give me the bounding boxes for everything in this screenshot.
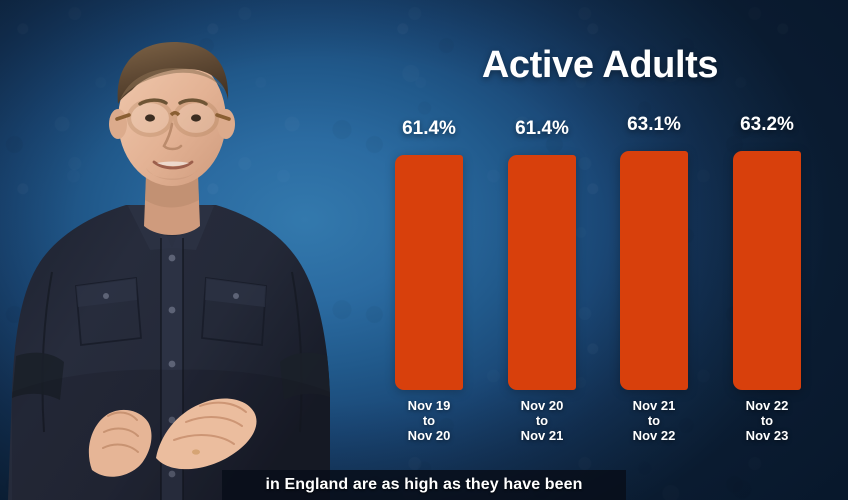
bar-axis-label-line3: Nov 23 — [746, 428, 789, 443]
bar-value-label: 63.1% — [627, 114, 681, 136]
bar-rect — [395, 155, 463, 390]
bar-axis-label: Nov 22 to Nov 23 — [746, 398, 789, 443]
bar-axis-label-line2: to — [521, 413, 564, 428]
bar-axis-label: Nov 20 to Nov 21 — [521, 398, 564, 443]
bar-axis-label-line3: Nov 22 — [633, 428, 676, 443]
bar-axis-label-line3: Nov 20 — [408, 428, 451, 443]
bar-group: 61.4% Nov 20 to Nov 21 — [508, 0, 576, 500]
bar-chart: 61.4% Nov 19 to Nov 20 61.4% Nov 20 to N… — [0, 0, 848, 500]
bar-axis-label-line2: to — [746, 413, 789, 428]
bar-group: 61.4% Nov 19 to Nov 20 — [395, 0, 463, 500]
bar-value-label: 61.4% — [515, 118, 569, 140]
bar-axis-label-line1: Nov 19 — [408, 398, 451, 413]
subtitle-caption: in England are as high as they have been — [222, 470, 626, 500]
bar-rect — [508, 155, 576, 390]
bar-value-label: 63.2% — [740, 114, 794, 136]
bar-group: 63.1% Nov 21 to Nov 22 — [620, 0, 688, 500]
bar-axis-label-line1: Nov 20 — [521, 398, 564, 413]
bar-axis-label: Nov 21 to Nov 22 — [633, 398, 676, 443]
bar-axis-label-line3: Nov 21 — [521, 428, 564, 443]
bar-axis-label-line2: to — [408, 413, 451, 428]
subtitle-caption-text: in England are as high as they have been — [266, 476, 583, 494]
bar-rect — [620, 151, 688, 390]
bar-axis-label-line1: Nov 21 — [633, 398, 676, 413]
bar-group: 63.2% Nov 22 to Nov 23 — [733, 0, 801, 500]
bar-axis-label-line2: to — [633, 413, 676, 428]
bar-axis-label-line1: Nov 22 — [746, 398, 789, 413]
video-frame: Active Adults 61.4% Nov 19 to Nov 20 61.… — [0, 0, 848, 500]
bar-value-label: 61.4% — [402, 118, 456, 140]
bar-axis-label: Nov 19 to Nov 20 — [408, 398, 451, 443]
bar-rect — [733, 151, 801, 390]
